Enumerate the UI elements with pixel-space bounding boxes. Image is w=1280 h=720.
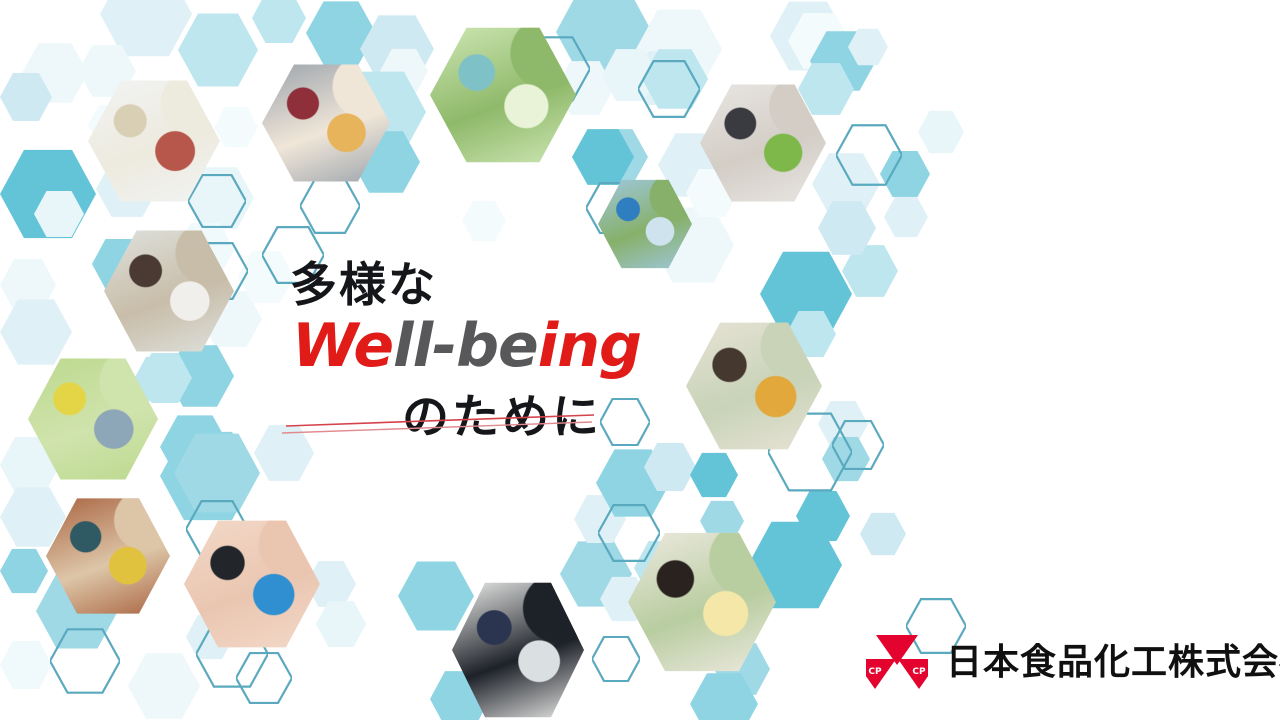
company-name: 日本食品化工株式会社 bbox=[946, 645, 1280, 681]
slide-canvas: 多様な Well-being のために bbox=[0, 0, 1280, 720]
hexagon-shape bbox=[398, 560, 474, 632]
wellbeing-segment-ing: ing bbox=[538, 311, 641, 381]
headline-line1: 多様な bbox=[286, 262, 616, 309]
hexagon-shape bbox=[0, 298, 72, 366]
cp-triangle-logo-icon: CP CP bbox=[866, 634, 928, 692]
hexagon-outline-shape bbox=[300, 178, 360, 234]
hexagon-shape bbox=[462, 200, 506, 242]
hexagon-shape bbox=[918, 110, 964, 154]
hexagon-shape bbox=[0, 640, 52, 690]
svg-text:CP: CP bbox=[912, 667, 926, 677]
hexagon-shape bbox=[128, 652, 200, 720]
wellbeing-segment-llbe: ll-be bbox=[393, 311, 538, 381]
hexagon-shape bbox=[0, 548, 48, 594]
hexagon-outline-shape bbox=[50, 628, 120, 694]
hexagon-shape bbox=[316, 600, 366, 648]
hexagon-outline-shape bbox=[598, 504, 660, 562]
hexagon-shape bbox=[690, 452, 738, 498]
company-logo: CP CP 日本食品化工株式会社 bbox=[866, 634, 1280, 692]
headline-block: 多様な Well-being のために bbox=[286, 262, 616, 474]
hexagon-outline-shape bbox=[638, 60, 700, 118]
headline-line3: のために bbox=[286, 394, 616, 441]
hexagon-shape bbox=[884, 196, 928, 238]
hexagon-outline-shape bbox=[592, 636, 640, 682]
wellbeing-segment-we: We bbox=[292, 311, 393, 381]
svg-text:CP: CP bbox=[868, 667, 882, 677]
hexagon-shape bbox=[214, 106, 258, 148]
hexagon-shape bbox=[860, 512, 906, 556]
hexagon-shape bbox=[252, 0, 306, 44]
hexagon-shape bbox=[178, 12, 258, 88]
hexagon-outline-shape bbox=[236, 652, 292, 704]
headline-wellbeing: Well-being bbox=[286, 315, 616, 378]
hexagon-outline-shape bbox=[836, 124, 902, 186]
